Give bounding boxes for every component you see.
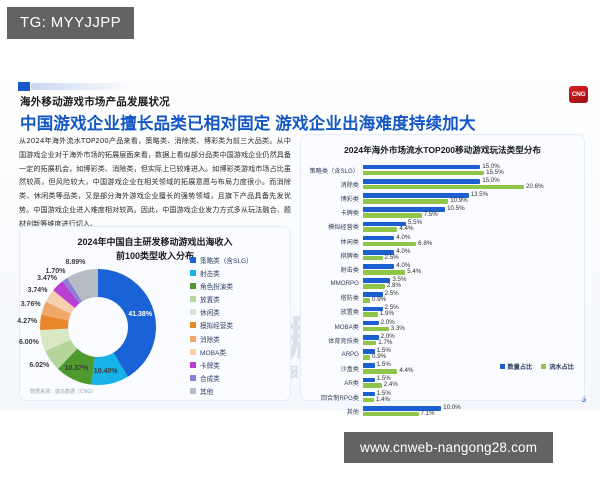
pie-legend-swatch [190, 349, 196, 355]
bar-pair: 4.0%5.4% [363, 263, 586, 276]
pie-slice-label: 6.02% [29, 362, 49, 369]
bar-chart-row: 消除类15.0%20.6% [301, 177, 586, 191]
bar-segment [363, 185, 524, 190]
bar-category-label: 博彩类 [301, 194, 363, 203]
pie-slice-label: 6.00% [19, 339, 39, 346]
bar-chart-row: 回合制RPG类1.5%1.4% [301, 390, 586, 404]
bar-segment [363, 335, 379, 340]
pie-legend-item[interactable]: 其他 [190, 386, 253, 396]
slide-kicker: 海外移动游戏市场产品发展状况 [20, 94, 170, 109]
pie-legend-swatch [190, 296, 196, 302]
pie-legend-swatch [190, 375, 196, 381]
bar-pair: 15.0%15.5% [363, 164, 586, 177]
bar-category-label: 休闲类 [301, 237, 363, 246]
bar-pair: 4.0%6.8% [363, 235, 586, 248]
pie-slice-label: 1.70% [46, 268, 66, 275]
pie-legend-label: 卡牌类 [200, 360, 220, 370]
bar-segment [363, 341, 376, 346]
pie-legend-swatch [190, 270, 196, 276]
bar-segment [363, 236, 394, 241]
accent-square [18, 82, 30, 91]
bar-chart-row: MMORPG3.5%2.8% [301, 277, 586, 291]
pie-legend-label: 休闲类 [200, 307, 220, 317]
bar-pair: 1.5%2.4% [363, 376, 586, 389]
bar-value-label: 1.4% [376, 396, 390, 403]
bar-segment [363, 256, 383, 261]
bar-chart-title: 2024年海外市场流水TOP200移动游戏玩法类型分布 [301, 144, 584, 157]
bar-category-label: MMORPG [301, 280, 363, 287]
bar-chart-row: 体育竞技类2.0%1.7% [301, 333, 586, 347]
bar-segment [363, 369, 397, 374]
pie-legend-item[interactable]: 消除类 [190, 334, 253, 344]
bar-value-label: 10.0% [443, 404, 461, 411]
bar-chart-card: 2024年海外市场流水TOP200移动游戏玩法类型分布 策略类（含SLG）15.… [300, 134, 585, 401]
bar-chart-row: 其他10.0%7.1% [301, 404, 586, 418]
tg-watermark-badge: TG: MYYJJPP [7, 7, 134, 39]
pie-legend-label: 射击类 [200, 268, 220, 278]
pie-legend-swatch [190, 257, 196, 263]
bar-category-label: 沙盒类 [301, 364, 363, 373]
bar-pair: 2.0%1.7% [363, 334, 586, 347]
pie-legend-swatch [190, 322, 196, 328]
bar-category-label: 策略类（含SLG） [301, 166, 363, 175]
bar-segment [363, 321, 379, 326]
bar-category-label: 模拟经营类 [301, 222, 363, 231]
bar-value-label: 10.5% [447, 205, 465, 212]
bar-chart-row: 博彩类13.5%10.9% [301, 191, 586, 205]
bar-pair: 2.0%3.3% [363, 320, 586, 333]
bar-category-label: 放置类 [301, 307, 363, 316]
pie-legend-label: 模拟经营类 [200, 320, 233, 330]
pie-slice-label: 4.27% [17, 318, 37, 325]
bar-segment [363, 398, 374, 403]
bar-legend-label: 流水占比 [549, 362, 574, 371]
bar-value-label: 15.5% [486, 169, 504, 176]
pie-legend-swatch [190, 309, 196, 315]
bar-category-label: 卡牌类 [301, 208, 363, 217]
bar-value-label: 2.8% [387, 282, 401, 289]
pie-legend-item[interactable]: 模拟经营类 [190, 320, 253, 330]
bar-segment [363, 270, 405, 275]
accent-gradient [31, 83, 136, 90]
bar-category-label: ARPG [301, 351, 363, 358]
bar-legend-item[interactable]: 数量占比 [500, 362, 533, 371]
bar-segment [363, 298, 370, 303]
bar-category-label: 塔防类 [301, 293, 363, 302]
bar-pair: 10.5%7.5% [363, 206, 586, 219]
bar-pair: 13.5%10.9% [363, 192, 586, 205]
bar-legend-swatch [541, 364, 546, 369]
pie-legend-label: 其他 [200, 386, 213, 396]
pie-slice-label: 3.76% [21, 301, 41, 308]
pie-legend-label: MOBA类 [200, 347, 226, 357]
bar-value-label: 2.5% [385, 254, 399, 261]
bar-legend-item[interactable]: 流水占比 [541, 362, 574, 371]
bar-chart-row: 塔防类2.5%0.9% [301, 291, 586, 305]
pie-chart-plot: 41.38%10.40%10.37%6.02%6.00%4.27%3.76%3.… [26, 261, 186, 393]
bar-legend-swatch [500, 364, 505, 369]
bar-value-label: 2.5% [385, 290, 399, 297]
pie-legend-swatch [190, 388, 196, 394]
pie-legend-item[interactable]: 休闲类 [190, 307, 253, 317]
bar-category-label: 射击类 [301, 265, 363, 274]
bar-pair: 10.0%7.1% [363, 405, 586, 418]
bar-value-label: 3.3% [391, 325, 405, 332]
pie-legend-label: 放置类 [200, 294, 220, 304]
bar-segment [363, 363, 375, 368]
bar-segment [363, 213, 422, 218]
pie-legend-item[interactable]: 合成类 [190, 373, 253, 383]
pie-legend-swatch [190, 336, 196, 342]
bar-pair: 4.0%2.5% [363, 249, 586, 262]
bar-value-label: 20.6% [526, 183, 544, 190]
bar-segment [363, 327, 389, 332]
bar-pair: 1.5%1.4% [363, 391, 586, 404]
bar-value-label: 0.9% [372, 353, 386, 360]
bar-chart-row: 卡牌类10.5%7.5% [301, 206, 586, 220]
bar-chart-row: 射击类4.0%5.4% [301, 262, 586, 276]
bar-segment [363, 165, 480, 170]
pie-legend-item[interactable]: 策略类（含SLG） [190, 255, 253, 265]
pie-legend-item[interactable]: 放置类 [190, 294, 253, 304]
bar-chart-row: 棋牌类4.0%2.5% [301, 248, 586, 262]
bar-value-label: 7.5% [424, 211, 438, 218]
bar-segment [363, 242, 416, 247]
bar-segment [363, 412, 419, 417]
slide-headline: 中国游戏企业擅长品类已相对固定 游戏企业出海难度持续加大 [20, 110, 476, 134]
bar-value-label: 2.4% [384, 381, 398, 388]
pie-chart-source: 数据来源：伽马数据（CNG） [30, 388, 96, 395]
bar-pair: 2.5%1.9% [363, 305, 586, 318]
presentation-slide: 海外移动游戏市场产品发展状况 中国游戏企业擅长品类已相对固定 游戏企业出海难度持… [0, 62, 600, 410]
pie-chart-card: 2024年中国自主研发移动游戏出海收入 前100类型收入分布 41.38%10.… [19, 226, 291, 401]
bar-category-label: AR类 [301, 378, 363, 387]
pie-legend-label: 消除类 [200, 334, 220, 344]
bar-segment [363, 199, 448, 204]
bar-category-label: 消除类 [301, 180, 363, 189]
pie-chart-legend: 策略类（含SLG）射击类角色扮演类放置类休闲类模拟经营类消除类MOBA类卡牌类合… [190, 255, 253, 396]
bar-value-label: 5.4% [407, 268, 421, 275]
bar-category-label: 其他 [301, 407, 363, 416]
bar-chart-row: 策略类（含SLG）15.0%15.5% [301, 163, 586, 177]
slide-body-paragraph: 从2024年海外流水TOP200产品来看，策略类、消除类、博彩类为前三大品类。从… [19, 134, 291, 231]
bar-segment [363, 392, 375, 397]
pie-legend-item[interactable]: 卡牌类 [190, 360, 253, 370]
bar-category-label: 回合制RPG类 [301, 393, 363, 402]
bar-segment [363, 312, 378, 317]
pie-title-line-1: 2024年中国自主研发移动游戏出海收入 [20, 236, 290, 250]
bar-value-label: 4.0% [396, 234, 410, 241]
bar-segment [363, 179, 480, 184]
bar-chart-row: MOBA类2.0%3.3% [301, 319, 586, 333]
bar-chart-row: AR类1.5%2.4% [301, 376, 586, 390]
bar-segment [363, 383, 382, 388]
bar-value-label: 15.0% [482, 177, 500, 184]
bar-segment [363, 355, 370, 360]
pie-slice-label: 3.47% [37, 275, 57, 282]
bar-value-label: 10.9% [450, 197, 468, 204]
pie-legend-swatch [190, 283, 196, 289]
pie-slice-label: 8.89% [66, 259, 86, 266]
bar-pair: 1.5%0.9% [363, 348, 586, 361]
url-watermark-badge: www.cnweb-nangong28.com [344, 432, 553, 463]
bar-chart-row: 模拟经营类5.5%4.4% [301, 220, 586, 234]
bar-category-label: MOBA类 [301, 322, 363, 331]
pie-slice-label: 3.74% [28, 287, 48, 294]
bar-pair: 15.0%20.6% [363, 178, 586, 191]
bar-value-label: 1.9% [380, 310, 394, 317]
bar-segment [363, 264, 394, 269]
bar-segment [363, 171, 484, 176]
pie-legend-label: 合成类 [200, 373, 220, 383]
bar-segment [363, 284, 385, 289]
bar-value-label: 4.4% [399, 225, 413, 232]
bar-segment [363, 227, 397, 232]
bar-legend-label: 数量占比 [508, 362, 533, 371]
bar-category-label: 棋牌类 [301, 251, 363, 260]
pie-slice-label: 10.40% [94, 368, 118, 375]
bar-chart-row: ARPG1.5%0.9% [301, 347, 586, 361]
header-accent-bar [18, 82, 138, 91]
pie-legend-label: 策略类（含SLG） [200, 255, 253, 265]
bar-segment [363, 378, 375, 383]
bar-pair: 3.5%2.8% [363, 277, 586, 290]
pie-slice-label: 41.38% [128, 311, 152, 318]
bar-value-label: 1.7% [378, 339, 392, 346]
pie-legend-item[interactable]: 角色扮演类 [190, 281, 253, 291]
bar-chart-plot: 策略类（含SLG）15.0%15.5%消除类15.0%20.6%博彩类13.5%… [301, 163, 586, 418]
pie-slice-label: 10.37% [65, 365, 89, 372]
pie-legend-item[interactable]: MOBA类 [190, 347, 253, 357]
pie-legend-swatch [190, 362, 196, 368]
bar-value-label: 7.1% [421, 410, 435, 417]
bar-value-label: 0.9% [372, 296, 386, 303]
bar-value-label: 13.5% [471, 191, 489, 198]
bar-value-label: 1.5% [377, 361, 391, 368]
bar-chart-row: 放置类2.5%1.9% [301, 305, 586, 319]
bar-chart-legend: 数量占比流水占比 [500, 362, 575, 371]
bar-pair: 2.5%0.9% [363, 291, 586, 304]
pie-legend-item[interactable]: 射击类 [190, 268, 253, 278]
bar-value-label: 4.4% [399, 367, 413, 374]
bar-chart-row: 休闲类4.0%6.8% [301, 234, 586, 248]
screenshot-root: TG: MYYJJPP 海外移动游戏市场产品发展状况 中国游戏企业擅长品类已相对… [0, 0, 600, 480]
pie-legend-label: 角色扮演类 [200, 281, 233, 291]
bar-value-label: 6.8% [418, 240, 432, 247]
bar-category-label: 体育竞技类 [301, 336, 363, 345]
bar-pair: 5.5%4.4% [363, 220, 586, 233]
cng-logo-icon: CNG [569, 86, 588, 103]
